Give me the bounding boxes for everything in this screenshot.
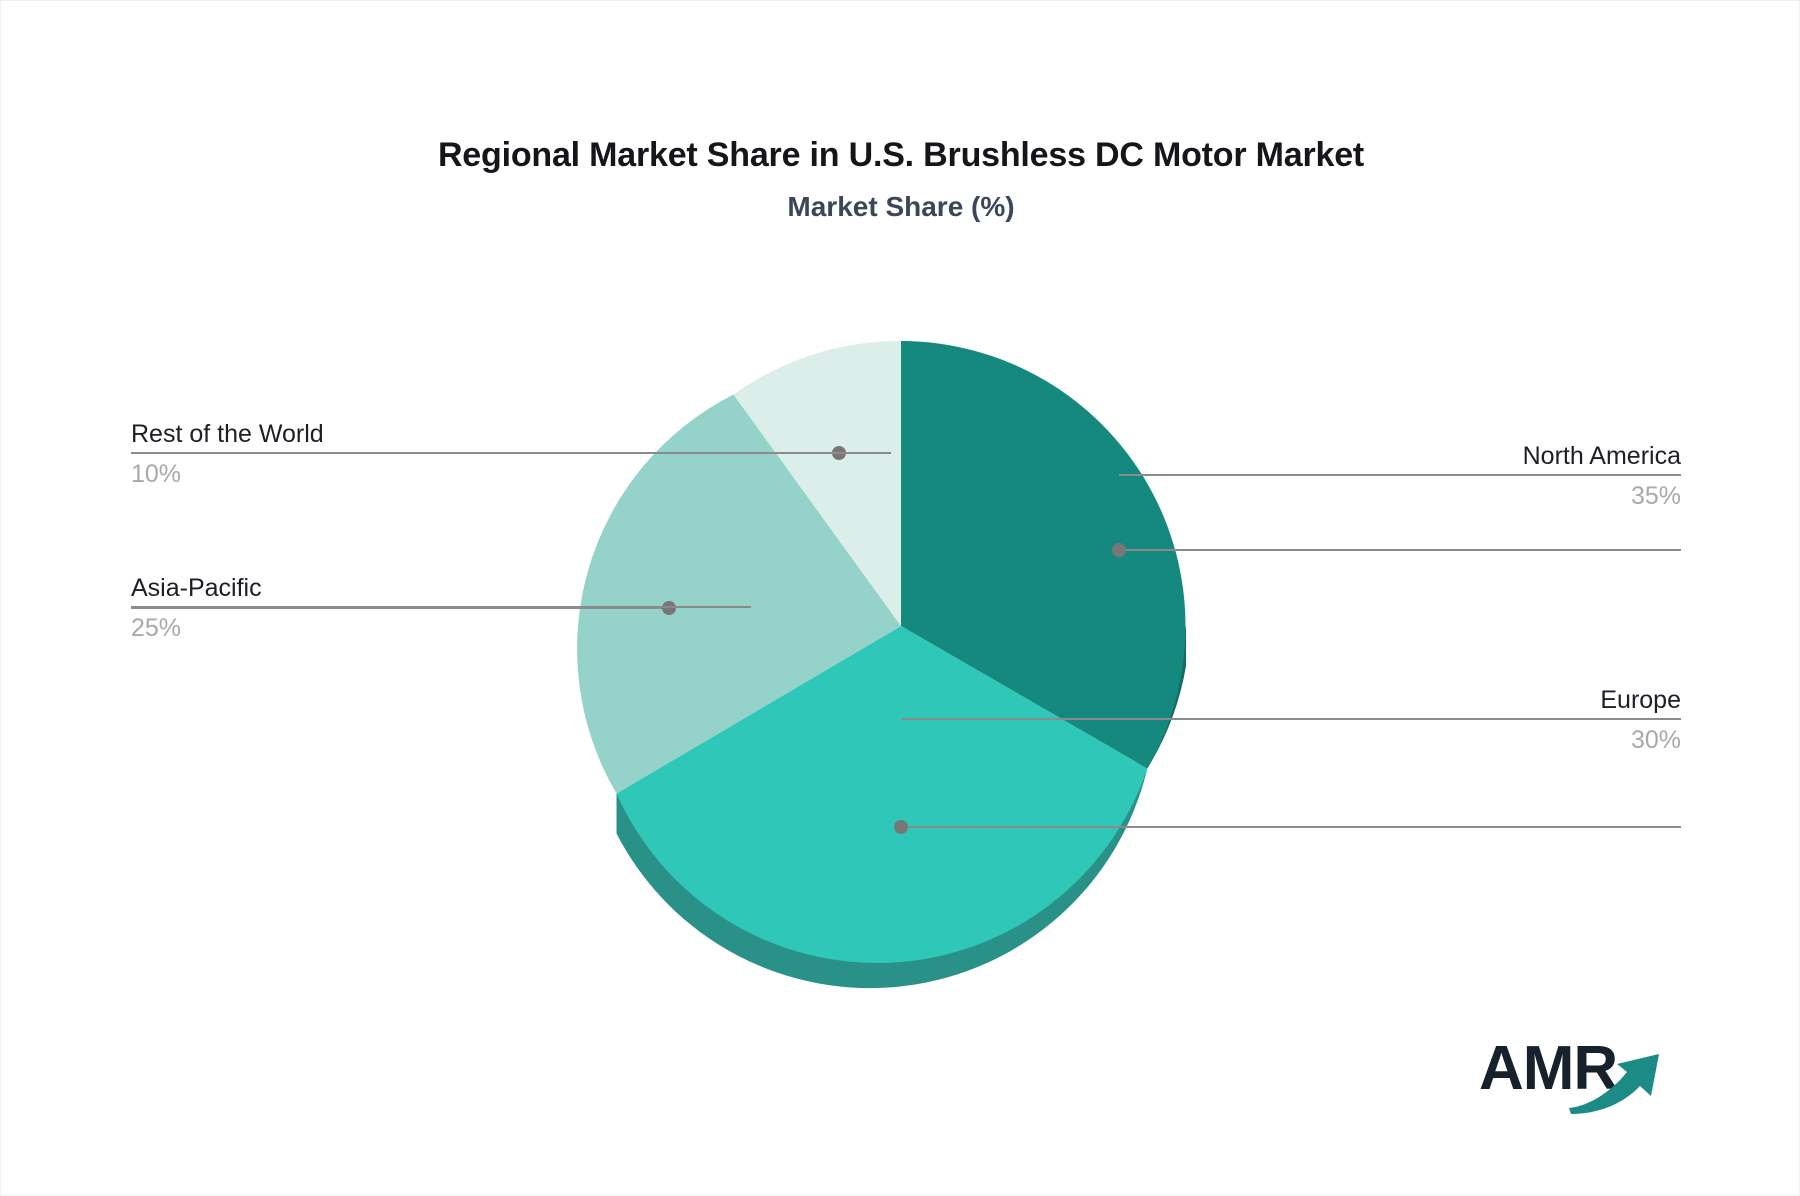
callout-value-rest-of-the-world: 10%: [131, 459, 891, 489]
callout-label-europe: Europe: [901, 685, 1681, 715]
callout-europe: Europe 30%: [901, 685, 1681, 755]
growth-arrow-icon: [1567, 1044, 1679, 1114]
leader-dot-europe: [894, 820, 908, 834]
chart-canvas: Regional Market Share in U.S. Brushless …: [0, 0, 1800, 1196]
callout-label-north-america: North America: [1119, 441, 1681, 471]
callout-rule-europe: [901, 718, 1681, 720]
amr-logo: AMR: [1479, 1036, 1679, 1116]
callout-label-rest-of-the-world: Rest of the World: [131, 419, 891, 449]
callout-asia-pacific: Asia-Pacific 25%: [131, 573, 751, 643]
callout-value-asia-pacific: 25%: [131, 613, 751, 643]
leader-dot-north-america: [1112, 543, 1126, 557]
callout-north-america: North America 35%: [1119, 441, 1681, 511]
callout-rule-rest-of-the-world: [131, 452, 891, 454]
callout-rule-asia-pacific: [131, 606, 751, 608]
callout-value-north-america: 35%: [1119, 481, 1681, 511]
callout-label-asia-pacific: Asia-Pacific: [131, 573, 751, 603]
callout-value-europe: 30%: [901, 725, 1681, 755]
callout-rule-north-america: [1119, 474, 1681, 476]
callout-rest-of-the-world: Rest of the World 10%: [131, 419, 891, 489]
